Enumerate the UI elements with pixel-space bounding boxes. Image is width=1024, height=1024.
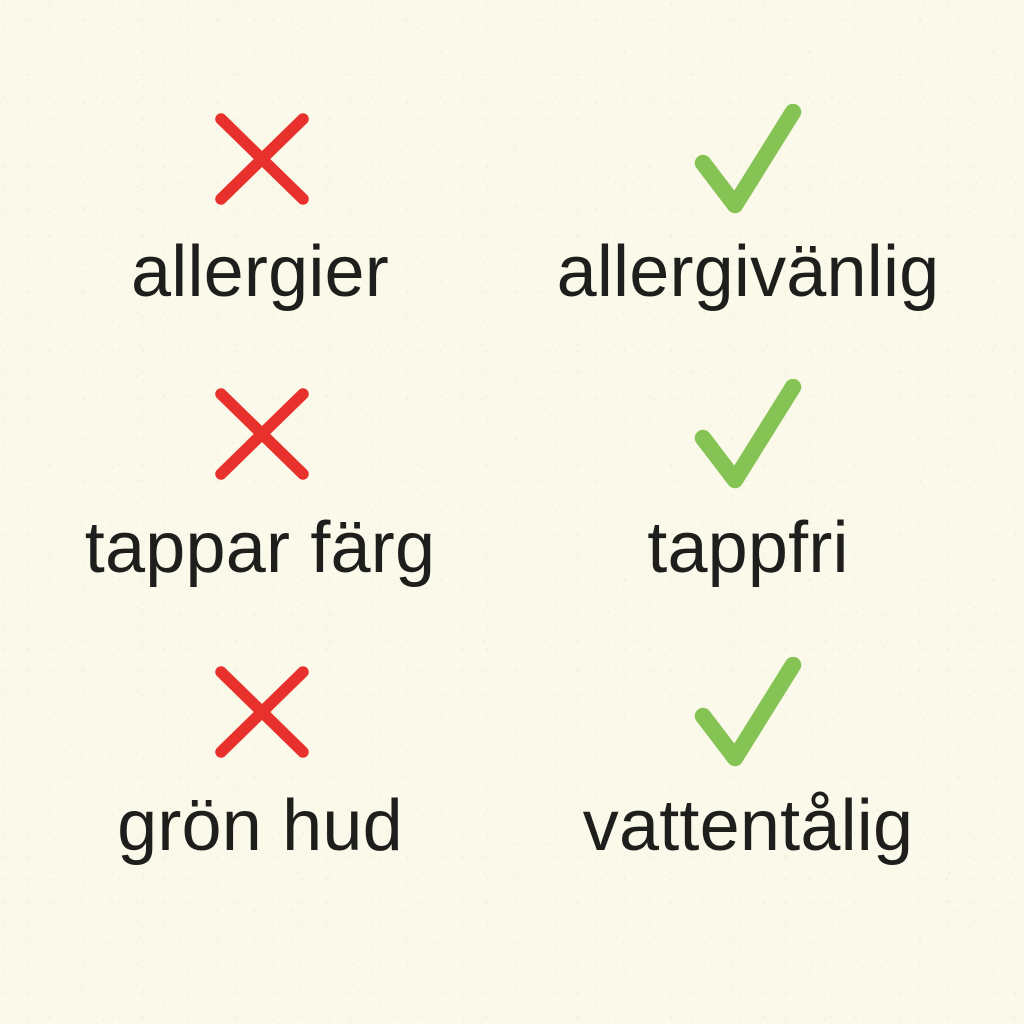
comparison-cell-negative-1: allergier [27, 100, 497, 308]
comparison-label: allergier [27, 236, 497, 308]
comparison-label: vattentålig [513, 790, 983, 862]
check-icon [513, 375, 983, 493]
comparison-cell-positive-3: vattentålig [513, 653, 983, 862]
comparison-label: allergivänlig [513, 236, 983, 308]
cross-icon [27, 100, 497, 218]
comparison-label: tappfri [513, 512, 983, 584]
comparison-cell-negative-2: tappar färg [27, 375, 497, 584]
check-icon [513, 653, 983, 771]
comparison-cell-negative-3: grön hud [27, 653, 497, 862]
comparison-infographic: allergier allergivänlig tappar färg [0, 0, 1024, 1024]
cross-icon [27, 653, 497, 771]
comparison-cell-positive-1: allergivänlig [513, 100, 983, 308]
cross-icon [27, 375, 497, 493]
comparison-grid: allergier allergivänlig tappar färg [0, 0, 1024, 1024]
comparison-label: tappar färg [27, 512, 497, 584]
comparison-cell-positive-2: tappfri [513, 375, 983, 584]
check-icon [513, 100, 983, 218]
comparison-label: grön hud [27, 790, 497, 862]
